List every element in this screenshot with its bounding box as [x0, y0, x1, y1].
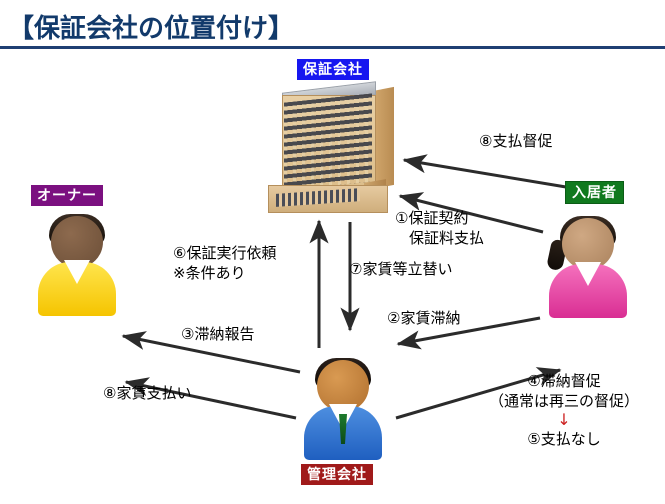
flow-label-8-rent-payment: ⑧家賃支払い [103, 383, 191, 403]
flow-label-2-rent-arrears: ②家賃滞納 [387, 308, 460, 328]
flow-label-1-guarantee-contract: ①保証契約 保証料支払 [395, 208, 484, 248]
person-owner-icon [34, 214, 120, 316]
flow-label-1-line2: 保証料支払 [395, 228, 484, 248]
flow-label-5-no-payment: ⑤支払なし [489, 429, 639, 449]
down-arrow-icon: ↓ [489, 412, 639, 428]
label-guarantee-company: 保証会社 [297, 59, 369, 80]
flow-label-7-rent-advance: ⑦家賃等立替い [349, 259, 452, 279]
label-tenant: 入居者 [565, 181, 624, 204]
flow-label-4-line1: ④滞納督促 [489, 371, 639, 391]
flow-label-6-line1: ⑥保証実行依頼 [173, 243, 276, 263]
flow-label-1-line1: ①保証契約 [395, 208, 484, 228]
flow-label-4-5-group: ④滞納督促 （通常は再三の督促） ↓ ⑤支払なし [489, 371, 639, 449]
flow-label-6-line2: ※条件あり [173, 263, 276, 283]
person-businessman-icon [300, 358, 386, 460]
office-building-icon [260, 85, 400, 213]
flow-label-8-payment-demand: ⑧支払督促 [479, 131, 552, 151]
label-management-company: 管理会社 [301, 464, 373, 485]
arrow-8a-payment-demand [404, 160, 572, 188]
flow-label-3-delinquency-report: ③滞納報告 [181, 324, 254, 344]
flow-label-6-guarantee-execution: ⑥保証実行依頼 ※条件あり [173, 243, 276, 283]
label-owner: オーナー [31, 185, 103, 206]
flow-label-4-line2: （通常は再三の督促） [489, 391, 639, 411]
diagram-canvas: 【保証会社の位置付け】 保証会社 [0, 0, 665, 504]
person-tenant-icon [545, 216, 631, 318]
